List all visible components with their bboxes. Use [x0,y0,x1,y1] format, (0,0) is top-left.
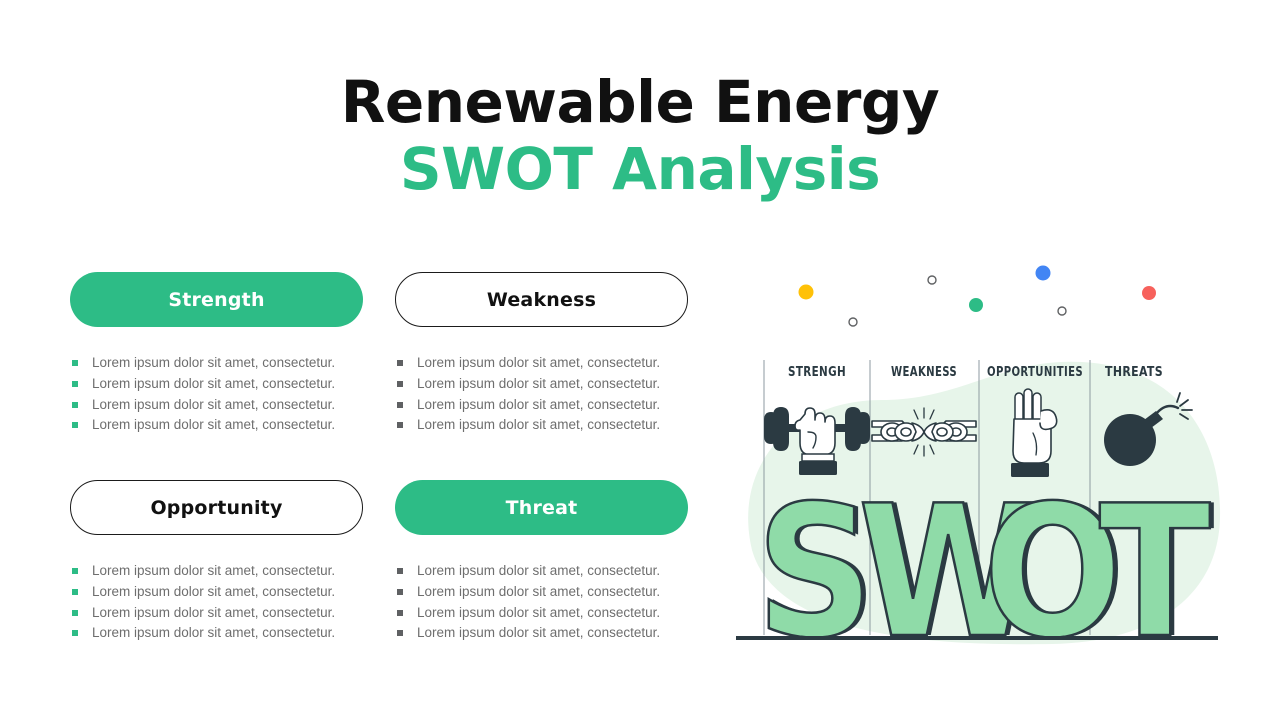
bullet-square-icon [397,402,403,408]
quadrant-threat: Threat Lorem ipsum dolor sit amet, conse… [395,480,688,644]
bullet-text: Lorem ipsum dolor sit amet, consectetur. [92,561,335,582]
bullet-text: Lorem ipsum dolor sit amet, consectetur. [92,623,335,644]
bullet-square-icon [72,589,78,595]
quadrant-label-threat: Threat [506,497,578,519]
column-label-opportunities: OPPORTUNITIES [987,365,1083,380]
bullet-square-icon [72,360,78,366]
list-item: Lorem ipsum dolor sit amet, consectetur. [72,395,363,416]
bullet-square-icon [397,360,403,366]
list-item: Lorem ipsum dolor sit amet, consectetur. [72,353,363,374]
red-dot [1142,286,1156,300]
bullet-list-weakness: Lorem ipsum dolor sit amet, consectetur.… [395,353,688,436]
hollow-dot-mid [928,276,936,284]
title-line-primary: Renewable Energy [0,72,1280,133]
quadrant-label-strength: Strength [168,289,264,311]
list-item: Lorem ipsum dolor sit amet, consectetur. [72,374,363,395]
bullet-square-icon [397,630,403,636]
bullet-square-icon [72,630,78,636]
bullet-text: Lorem ipsum dolor sit amet, consectetur. [417,561,660,582]
quadrant-label-opportunity: Opportunity [150,497,282,519]
swot-wordmark: S S W W O O T T [756,466,1217,650]
list-item: Lorem ipsum dolor sit amet, consectetur. [72,561,363,582]
bullet-square-icon [72,568,78,574]
quadrant-weakness: Weakness Lorem ipsum dolor sit amet, con… [395,272,688,436]
list-item: Lorem ipsum dolor sit amet, consectetur. [397,582,688,603]
swot-quadrant-grid: Strength Lorem ipsum dolor sit amet, con… [70,272,690,662]
column-label-weakness: WEAKNESS [891,365,957,380]
bullet-text: Lorem ipsum dolor sit amet, consectetur. [92,395,335,416]
bullet-square-icon [72,422,78,428]
list-item: Lorem ipsum dolor sit amet, consectetur. [397,395,688,416]
bullet-text: Lorem ipsum dolor sit amet, consectetur. [417,603,660,624]
hollow-dot-left [849,318,857,326]
list-item: Lorem ipsum dolor sit amet, consectetur. [72,623,363,644]
list-item: Lorem ipsum dolor sit amet, consectetur. [397,353,688,374]
quadrant-header-strength[interactable]: Strength [70,272,363,327]
bullet-text: Lorem ipsum dolor sit amet, consectetur. [417,623,660,644]
list-item: Lorem ipsum dolor sit amet, consectetur. [397,623,688,644]
bullet-text: Lorem ipsum dolor sit amet, consectetur. [417,395,660,416]
quadrant-header-threat[interactable]: Threat [395,480,688,535]
quadrant-header-opportunity[interactable]: Opportunity [70,480,363,535]
hollow-dot-right [1058,307,1066,315]
bullet-square-icon [397,381,403,387]
bullet-square-icon [397,422,403,428]
quadrant-label-weakness: Weakness [487,289,596,311]
bullet-square-icon [72,402,78,408]
bullet-text: Lorem ipsum dolor sit amet, consectetur. [92,353,335,374]
swot-letter-t: T [1099,466,1213,650]
slide-root: Renewable Energy SWOT Analysis Strength … [0,0,1280,720]
bullet-list-strength: Lorem ipsum dolor sit amet, consectetur.… [70,353,363,436]
bullet-text: Lorem ipsum dolor sit amet, consectetur. [417,582,660,603]
list-item: Lorem ipsum dolor sit amet, consectetur. [72,415,363,436]
green-dot [969,298,983,312]
blue-dot [1036,266,1051,281]
bullet-text: Lorem ipsum dolor sit amet, consectetur. [417,415,660,436]
bullet-square-icon [72,381,78,387]
bullet-square-icon [397,589,403,595]
title-line-secondary: SWOT Analysis [0,133,1280,206]
bullet-square-icon [397,610,403,616]
swot-illustration: STRENGH WEAKNESS OPPORTUNITIES THREATS [722,250,1232,650]
bullet-square-icon [397,568,403,574]
column-label-strength: STRENGH [788,365,846,380]
column-label-threats: THREATS [1105,365,1163,380]
bullet-square-icon [72,610,78,616]
page-title: Renewable Energy SWOT Analysis [0,72,1280,205]
quadrant-opportunity: Opportunity Lorem ipsum dolor sit amet, … [70,480,363,644]
bullet-text: Lorem ipsum dolor sit amet, consectetur. [92,374,335,395]
bullet-text: Lorem ipsum dolor sit amet, consectetur. [92,582,335,603]
bullet-list-opportunity: Lorem ipsum dolor sit amet, consectetur.… [70,561,363,644]
list-item: Lorem ipsum dolor sit amet, consectetur. [397,603,688,624]
bullet-text: Lorem ipsum dolor sit amet, consectetur. [92,415,335,436]
quadrant-strength: Strength Lorem ipsum dolor sit amet, con… [70,272,363,436]
list-item: Lorem ipsum dolor sit amet, consectetur. [72,603,363,624]
list-item: Lorem ipsum dolor sit amet, consectetur. [72,582,363,603]
list-item: Lorem ipsum dolor sit amet, consectetur. [397,415,688,436]
quadrant-header-weakness[interactable]: Weakness [395,272,688,327]
bullet-text: Lorem ipsum dolor sit amet, consectetur. [92,603,335,624]
bullet-list-threat: Lorem ipsum dolor sit amet, consectetur.… [395,561,688,644]
list-item: Lorem ipsum dolor sit amet, consectetur. [397,561,688,582]
bullet-text: Lorem ipsum dolor sit amet, consectetur. [417,353,660,374]
bullet-text: Lorem ipsum dolor sit amet, consectetur. [417,374,660,395]
list-item: Lorem ipsum dolor sit amet, consectetur. [397,374,688,395]
yellow-dot [799,285,814,300]
